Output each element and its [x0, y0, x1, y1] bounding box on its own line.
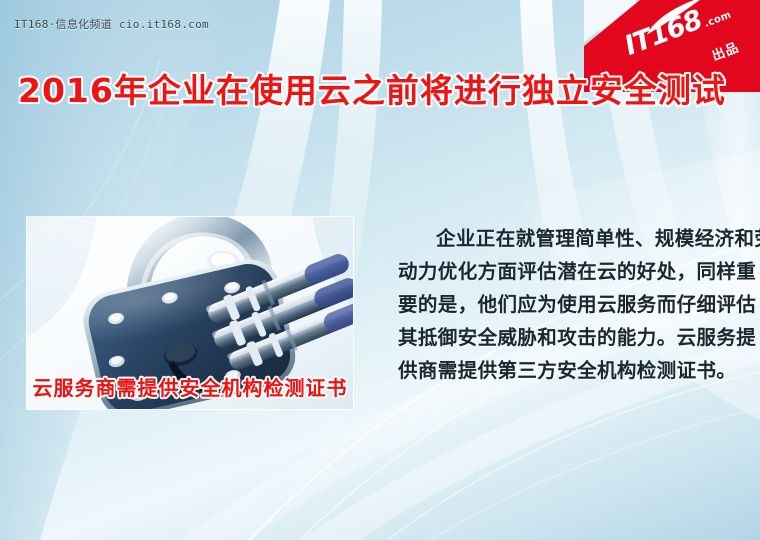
- body-line: 动力优化方面评估潜在云的好处，同样重: [398, 255, 736, 288]
- body-line: 供商需提供第三方安全机构检测证书。: [398, 354, 736, 387]
- body-line: 其抵御安全威胁和攻击的能力。云服务提: [398, 321, 736, 354]
- photo-caption: 云服务商需提供安全机构检测证书: [27, 372, 353, 401]
- site-watermark: IT168·信息化频道 cio.it168.com: [14, 16, 209, 32]
- body-copy: 企业正在就管理简单性、规模经济和劳 动力优化方面评估潜在云的好处，同样重 要的是…: [398, 222, 736, 387]
- body-line: 企业正在就管理简单性、规模经济和劳: [398, 222, 736, 255]
- slide-canvas: IT168·信息化频道 cio.it168.com IT168 .com 出品 …: [0, 0, 760, 540]
- body-line: 要的是，他们应为使用云服务而仔细评估: [398, 288, 736, 321]
- illustration-photo: 云服务商需提供安全机构检测证书: [27, 217, 353, 409]
- page-title: 2016年企业在使用云之前将进行独立安全测试: [18, 64, 726, 112]
